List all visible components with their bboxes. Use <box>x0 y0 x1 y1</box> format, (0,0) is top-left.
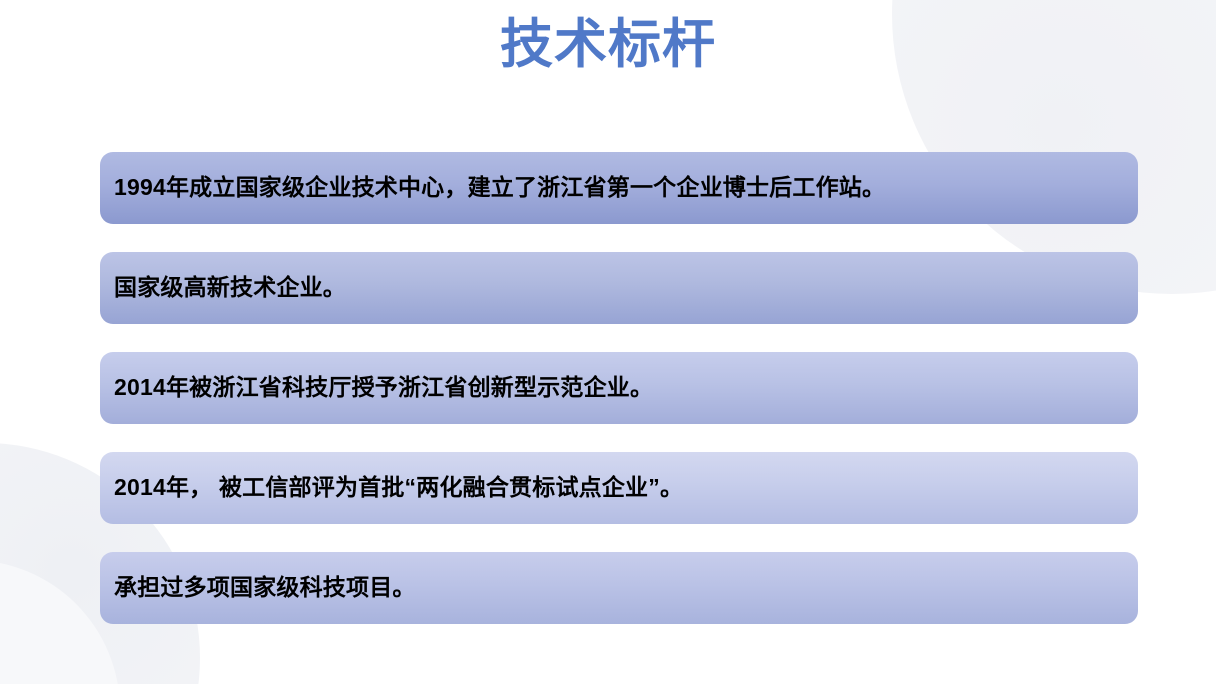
bullet-bar-1[interactable]: 1994年成立国家级企业技术中心，建立了浙江省第一个企业博士后工作站。 <box>100 152 1138 224</box>
bullet-text-1: 1994年成立国家级企业技术中心，建立了浙江省第一个企业博士后工作站。 <box>114 174 885 202</box>
bullet-text-4: 2014年， 被工信部评为首批“两化融合贯标试点企业”。 <box>114 474 683 502</box>
bullet-text-2: 国家级高新技术企业。 <box>114 274 346 302</box>
bullet-bar-3[interactable]: 2014年被浙江省科技厅授予浙江省创新型示范企业。 <box>100 352 1138 424</box>
bullet-bar-4[interactable]: 2014年， 被工信部评为首批“两化融合贯标试点企业”。 <box>100 452 1138 524</box>
bullet-text-5: 承担过多项国家级科技项目。 <box>114 574 416 602</box>
page-title: 技术标杆 <box>500 16 716 74</box>
bullet-bar-2[interactable]: 国家级高新技术企业。 <box>100 252 1138 324</box>
title-container: 技术标杆 <box>0 16 1216 74</box>
bullet-text-3: 2014年被浙江省科技厅授予浙江省创新型示范企业。 <box>114 374 653 402</box>
slide-canvas: 技术标杆 1994年成立国家级企业技术中心，建立了浙江省第一个企业博士后工作站。… <box>0 0 1216 684</box>
bullet-list: 1994年成立国家级企业技术中心，建立了浙江省第一个企业博士后工作站。 国家级高… <box>100 152 1138 624</box>
bullet-bar-5[interactable]: 承担过多项国家级科技项目。 <box>100 552 1138 624</box>
